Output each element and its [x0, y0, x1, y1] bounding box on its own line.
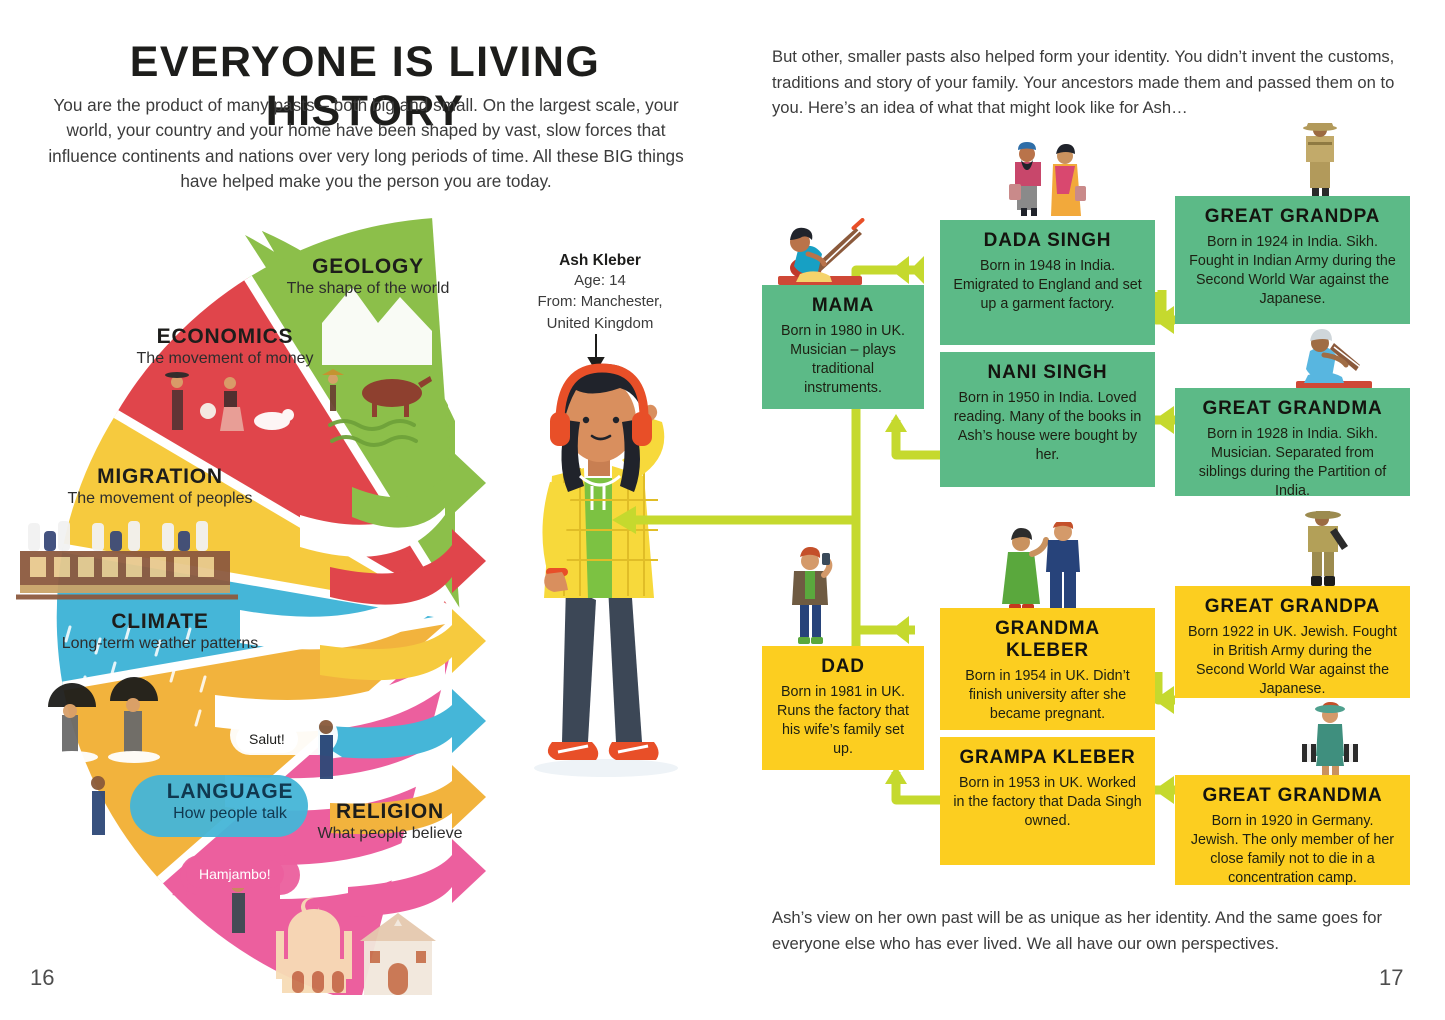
spread-page: EVERYONE IS LIVING HISTORY You are the p… — [0, 0, 1445, 1020]
right-outro-paragraph: Ash’s view on her own past will be as un… — [772, 905, 1402, 956]
subject-from-line-1: From: Manchester, — [510, 291, 690, 312]
person-box-great-grandpa-kleber[interactable]: GREAT GRANDPA Born 1922 in UK. Jewish. F… — [1175, 586, 1410, 698]
person-name-grandma-kleber: GRANDMA KLEBER — [952, 618, 1143, 662]
subject-from-line-2: United Kingdom — [510, 313, 690, 334]
speech-bubble-hamjambo: Hamjambo! — [186, 860, 284, 888]
person-box-great-grandma-singh[interactable]: GREAT GRANDMA Born in 1928 in India. Sik… — [1175, 388, 1410, 496]
person-desc-great-grandpa-kleber: Born 1922 in UK. Jewish. Fought in Briti… — [1187, 623, 1398, 699]
figurine-grandma-and-grampa-kleber — [992, 522, 1092, 614]
figurine-great-grandpa-soldier — [1290, 120, 1350, 200]
person-name-grampa-kleber: GRAMPA KLEBER — [952, 747, 1143, 769]
left-intro-paragraph: You are the product of many pasts – both… — [42, 93, 690, 194]
figurine-great-grandma-with-suitcases — [1296, 700, 1364, 780]
speech-bubble-salut: Salut! — [236, 725, 298, 753]
person-name-great-grandpa-kleber: GREAT GRANDPA — [1187, 596, 1398, 618]
page-number-right: 17 — [1379, 965, 1403, 991]
right-page: But other, smaller pasts also helped for… — [730, 0, 1445, 1020]
person-name-mama: MAMA — [774, 295, 912, 317]
person-box-great-grandpa-singh[interactable]: GREAT GRANDPA Born in 1924 in India. Sik… — [1175, 196, 1410, 324]
figurine-mama-musician — [770, 218, 880, 288]
person-desc-dad: Born in 1981 in UK. Runs the factory tha… — [774, 683, 912, 759]
person-name-great-grandpa-singh: GREAT GRANDPA — [1187, 206, 1398, 228]
figurine-dad — [778, 545, 842, 649]
person-box-grandma-kleber[interactable]: GRANDMA KLEBER Born in 1954 in UK. Didn’… — [940, 608, 1155, 730]
arrow-to-subject — [610, 505, 740, 535]
person-name-dad: DAD — [774, 656, 912, 678]
person-name-great-grandma-singh: GREAT GRANDMA — [1187, 398, 1398, 420]
figurine-great-grandpa-british-soldier — [1292, 508, 1356, 590]
person-desc-nani-singh: Born in 1950 in India. Loved reading. Ma… — [952, 389, 1143, 465]
person-desc-great-grandma-kleber: Born in 1920 in Germany. Jewish. The onl… — [1187, 812, 1398, 888]
subject-label: Ash Kleber Age: 14 From: Manchester, Uni… — [510, 252, 690, 334]
person-desc-grandma-kleber: Born in 1954 in UK. Didn’t finish univer… — [952, 667, 1143, 724]
person-desc-great-grandma-singh: Born in 1928 in India. Sikh. Musician. S… — [1187, 425, 1398, 501]
person-name-nani-singh: NANI SINGH — [952, 362, 1143, 384]
figurine-great-grandma-musician — [1290, 325, 1380, 393]
person-desc-mama: Born in 1980 in UK. Musician – plays tra… — [774, 322, 912, 398]
person-box-mama[interactable]: MAMA Born in 1980 in UK. Musician – play… — [762, 285, 924, 409]
subject-name: Ash Kleber — [510, 252, 690, 270]
person-box-grampa-kleber[interactable]: GRAMPA KLEBER Born in 1953 in UK. Worked… — [940, 737, 1155, 865]
forces-fan-diagram: GEOLOGY The shape of the world ECONOMICS… — [0, 215, 520, 995]
person-box-nani-singh[interactable]: NANI SINGH Born in 1950 in India. Loved … — [940, 352, 1155, 487]
person-name-dada-singh: DADA SINGH — [952, 230, 1143, 252]
person-desc-great-grandpa-singh: Born in 1924 in India. Sikh. Fought in I… — [1187, 233, 1398, 309]
family-tree: MAMA Born in 1980 in UK. Musician – play… — [730, 0, 1445, 1020]
subject-illustration — [488, 350, 718, 780]
person-box-dada-singh[interactable]: DADA SINGH Born in 1948 in India. Emigra… — [940, 220, 1155, 345]
figurine-dada-and-nani — [997, 140, 1097, 224]
person-desc-grampa-kleber: Born in 1953 in UK. Worked in the factor… — [952, 774, 1143, 831]
person-box-great-grandma-kleber[interactable]: GREAT GRANDMA Born in 1920 in Germany. J… — [1175, 775, 1410, 885]
page-number-left: 16 — [30, 965, 54, 991]
person-box-dad[interactable]: DAD Born in 1981 in UK. Runs the factory… — [762, 646, 924, 770]
subject-age: Age: 14 — [510, 270, 690, 291]
person-desc-dada-singh: Born in 1948 in India. Emigrated to Engl… — [952, 257, 1143, 314]
person-name-great-grandma-kleber: GREAT GRANDMA — [1187, 785, 1398, 807]
